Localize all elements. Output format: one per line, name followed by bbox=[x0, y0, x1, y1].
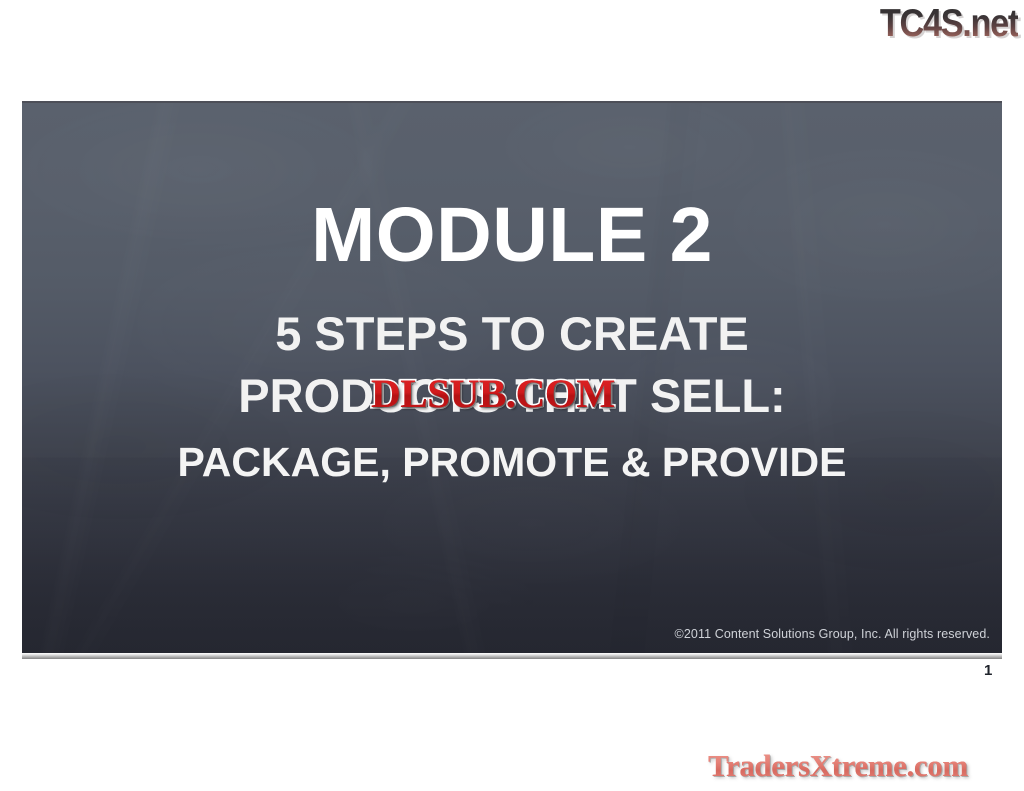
site-logo-tc4s: TC4S.net bbox=[880, 2, 1018, 46]
slide-number: 1 bbox=[984, 662, 992, 680]
copyright-notice: ©2011 Content Solutions Group, Inc. All … bbox=[675, 627, 990, 641]
presentation-page: { "site_logo": { "text": "TC4S.net" }, "… bbox=[0, 0, 1024, 791]
slide-subtitle-line-1: 5 STEPS TO CREATE bbox=[62, 303, 962, 365]
slide-tagline: PACKAGE, PROMOTE & PROVIDE bbox=[178, 437, 847, 487]
slide-bottom-bevel bbox=[22, 653, 1002, 659]
tradersxtreme-brand: TradersXtreme.com bbox=[708, 748, 968, 784]
slide-title: MODULE 2 bbox=[311, 193, 713, 277]
dlsub-watermark: DLSUB.COM bbox=[371, 374, 615, 414]
